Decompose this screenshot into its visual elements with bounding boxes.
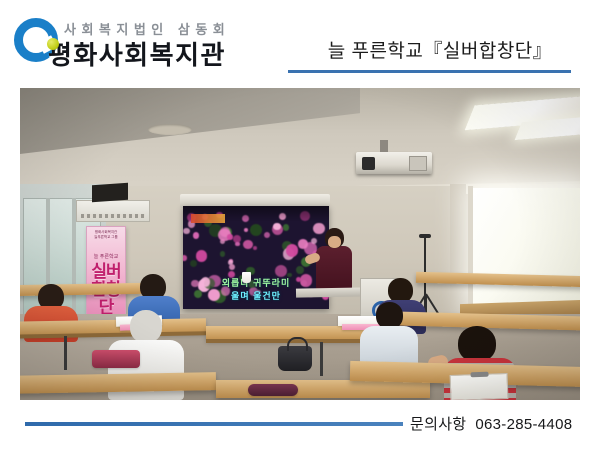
paper-cup [242,272,251,283]
personal-item [248,384,298,396]
window-mullion [468,186,473,308]
desk-leg [64,336,67,370]
air-conditioner [76,200,150,222]
wall-speaker [92,183,128,203]
instructor-face [328,236,341,248]
ceiling-projector [356,152,432,174]
organization-type-label: 사회복지법인 삼동회 [64,22,230,38]
slide-lyrics-line1: 외롭다 귀뚜라미 [222,278,290,288]
desk [20,372,216,394]
personal-item [92,350,140,368]
page-header: 사회복지법인 삼동회 평화사회복지관 늘 푸른학교『실버합창단』 [0,0,600,88]
contact-phone: 063-285-4408 [475,416,572,433]
slide-lyrics-line2: 울며 울건만 [231,291,281,301]
page-footer: 문의사항 063-285-4408 [0,400,600,450]
clipboard [450,373,509,400]
green-dot-icon [47,38,59,50]
projector-lens-icon [362,157,375,170]
desk-leg [320,342,323,376]
ceiling-vent-icon [148,124,192,135]
banner-top-note: 평화사회복지관늘푸른학교 그룹 [89,230,123,240]
organization-name-label: 평화사회복지관 [48,40,230,70]
footer-divider [25,422,403,426]
header-divider [288,70,571,73]
contact-info: 문의사항 063-285-4408 [410,413,572,434]
slide-tag [191,214,225,223]
instructor-body [316,246,352,290]
event-photo: 외롭다 귀뚜라미 울며 울건만 평화사회복지관늘푸른학교 그룹 늘 푸른학교 실… [20,88,580,400]
projector-panel [409,156,427,171]
classroom-scene: 외롭다 귀뚜라미 울며 울건만 평화사회복지관늘푸른학교 그룹 늘 푸른학교 실… [20,88,580,400]
window-daylight [472,188,580,306]
page-title: 늘 푸른학교『실버합창단』 [300,36,580,63]
logo-text-block: 사회복지법인 삼동회 평화사회복지관 [56,22,230,70]
handbag [278,346,312,371]
front-table [296,287,368,297]
banner-subtitle: 늘 푸른학교 [87,253,125,260]
contact-label: 문의사항 [410,416,466,433]
